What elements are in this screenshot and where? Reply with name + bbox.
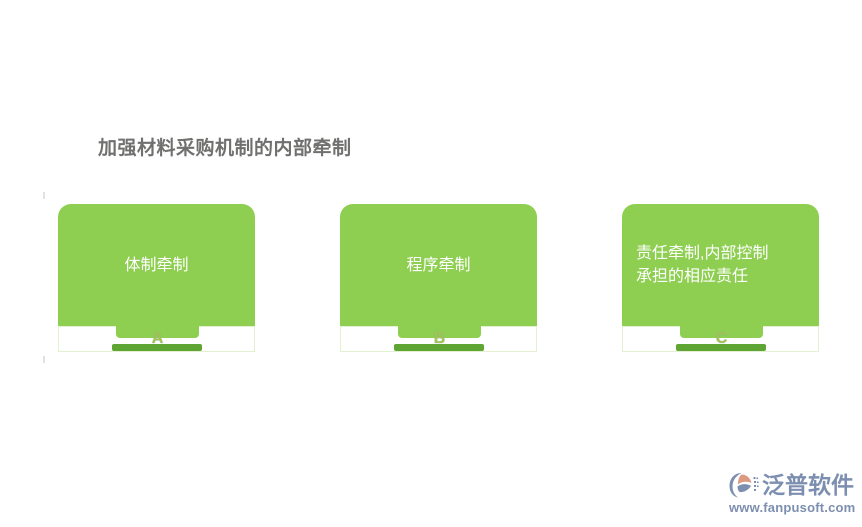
card-body-b: 程序牵制 — [340, 204, 537, 326]
card-label-a: 体制牵制 — [114, 254, 198, 277]
card-base-c — [676, 344, 766, 351]
card-base-b — [394, 344, 484, 351]
card-body-a: 体制牵制 — [58, 204, 255, 326]
card-body-c: 责任牵制,内部控制 承担的相应责任 — [622, 204, 819, 326]
watermark-url: www.fanpusoft.com — [729, 500, 855, 516]
card-label-c: 责任牵制,内部控制 承担的相应责任 — [622, 242, 819, 288]
diagram-card-c[interactable]: 责任牵制,内部控制 承担的相应责任 C — [622, 204, 819, 352]
slide-canvas: 加强材料采购机制的内部牵制 体制牵制 A 程序牵制 B — [0, 0, 862, 527]
watermark-top: 泛普软件 — [728, 470, 854, 500]
cards-row: 体制牵制 A 程序牵制 B 责任牵制,内部控制 承担的相应责任 C — [0, 0, 862, 527]
diagram-card-b[interactable]: 程序牵制 B — [340, 204, 537, 352]
card-label-b: 程序牵制 — [396, 254, 480, 277]
card-base-a — [112, 344, 202, 351]
diagram-card-a[interactable]: 体制牵制 A — [58, 204, 255, 352]
watermark: 泛普软件 www.fanpusoft.com — [728, 470, 856, 518]
page-title: 加强材料采购机制的内部牵制 — [98, 138, 352, 161]
fanpu-logo-icon — [728, 471, 759, 499]
watermark-brand: 泛普软件 — [762, 472, 854, 498]
edge-tick-bottom — [43, 356, 45, 363]
edge-tick-top — [43, 192, 45, 199]
